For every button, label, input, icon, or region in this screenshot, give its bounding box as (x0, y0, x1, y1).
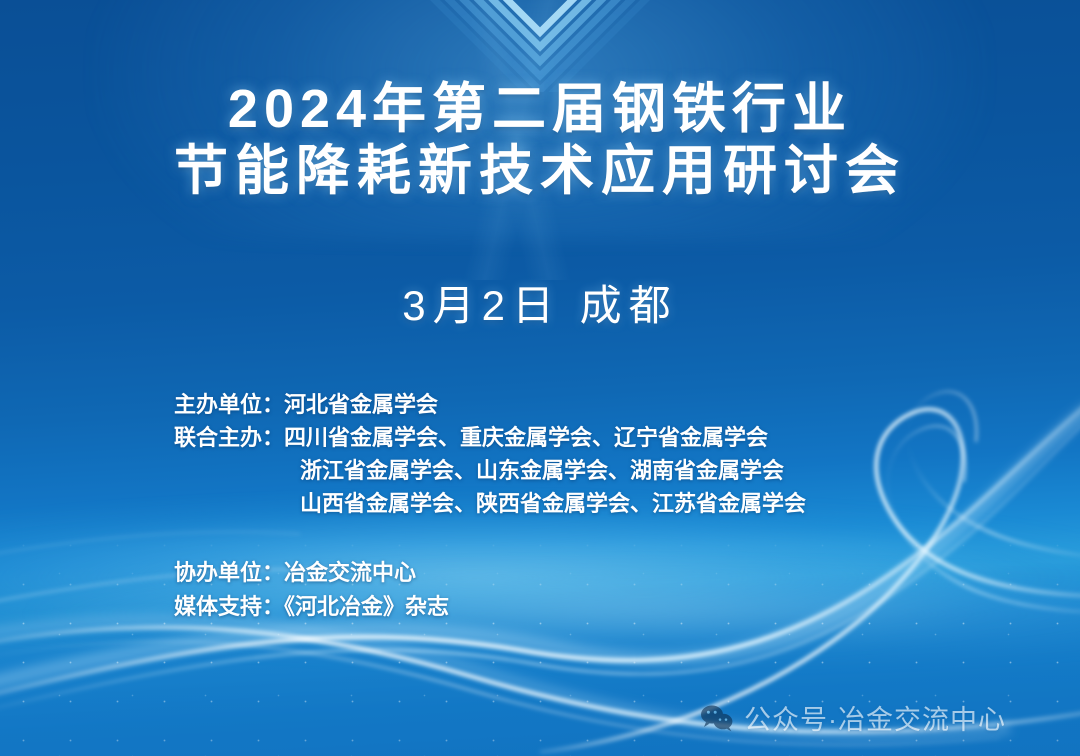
organizers-block: 主办单位：河北省金属学会 联合主办：四川省金属学会、重庆金属学会、辽宁省金属学会… (174, 388, 806, 520)
coorganizer-value: 冶金交流中心 (284, 560, 416, 585)
poster-title: 2024年第二届钢铁行业 节能降耗新技术应用研讨会 (0, 78, 1080, 202)
date-location: 3月2日 成都 (0, 272, 1080, 333)
coorganizer-label: 协办单位： (174, 560, 284, 585)
wechat-icon (700, 704, 734, 732)
co-host-line-2: 浙江省金属学会、山东金属学会、湖南省金属学会 (300, 458, 784, 483)
watermark-text: 公众号·冶金交流中心 (744, 698, 1006, 737)
conference-poster: 2024年第二届钢铁行业 节能降耗新技术应用研讨会 3月2日 成都 主办单位：河… (0, 0, 1080, 756)
co-host-row: 联合主办：四川省金属学会、重庆金属学会、辽宁省金属学会 (174, 421, 806, 454)
host-row: 主办单位：河北省金属学会 (174, 388, 806, 421)
poster-content: 2024年第二届钢铁行业 节能降耗新技术应用研讨会 3月2日 成都 主办单位：河… (0, 0, 1080, 756)
title-line-2: 节能降耗新技术应用研讨会 (0, 140, 1080, 202)
media-row: 媒体支持：《河北冶金》杂志 (174, 590, 449, 624)
co-host-row: 浙江省金属学会、山东金属学会、湖南省金属学会 (174, 454, 806, 487)
coorganizer-row: 协办单位：冶金交流中心 (174, 556, 449, 590)
co-host-row: 山西省金属学会、陕西省金属学会、江苏省金属学会 (174, 487, 806, 520)
host-value: 河北省金属学会 (284, 392, 438, 417)
host-label: 主办单位： (174, 392, 284, 417)
watermark: 公众号·冶金交流中心 (700, 698, 1006, 737)
media-label: 媒体支持： (174, 594, 284, 619)
support-block: 协办单位：冶金交流中心 媒体支持：《河北冶金》杂志 (174, 556, 449, 624)
title-line-1: 2024年第二届钢铁行业 (0, 78, 1080, 140)
media-value: 《河北冶金》杂志 (284, 594, 449, 619)
co-host-line-3: 山西省金属学会、陕西省金属学会、江苏省金属学会 (300, 491, 806, 516)
co-host-line-1: 四川省金属学会、重庆金属学会、辽宁省金属学会 (284, 425, 768, 450)
co-host-label: 联合主办： (174, 425, 284, 450)
